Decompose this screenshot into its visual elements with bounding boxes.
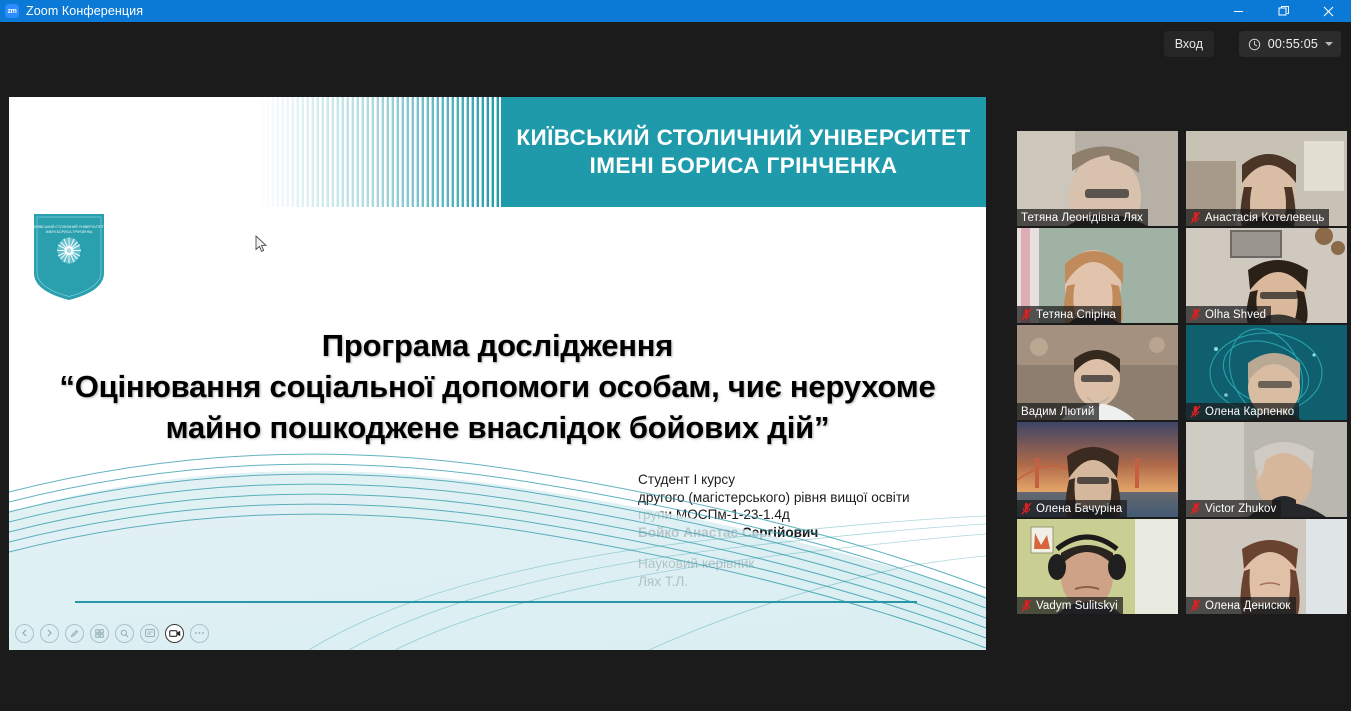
participant-namebar: Vadym Sulitskyi: [1017, 597, 1123, 614]
window-controls: [1216, 0, 1351, 22]
slide-title-line-2: “Оцінювання соціальної допомоги особам, …: [39, 366, 956, 407]
participant-namebar: Тетяна Спіріна: [1017, 306, 1121, 323]
restore-icon[interactable]: [1261, 0, 1306, 22]
participant-name: Олена Бачуріна: [1036, 503, 1122, 515]
participant-tile[interactable]: Олена Бачуріна: [1017, 422, 1178, 517]
participant-name: Анастасія Котелевець: [1205, 212, 1324, 224]
participant-name: Вадим Лютий: [1021, 406, 1094, 418]
wave-decoration: [9, 420, 986, 650]
mic-muted-icon: [1190, 405, 1201, 418]
participant-tile[interactable]: Olha Shved: [1186, 228, 1347, 323]
pen-icon[interactable]: [65, 624, 84, 643]
svg-text:КИЇВСЬКИЙ СТОЛИЧНИЙ УНІВЕРСИТЕ: КИЇВСЬКИЙ СТОЛИЧНИЙ УНІВЕРСИТЕТ: [34, 225, 104, 229]
video-camera-icon[interactable]: [165, 624, 184, 643]
participant-tile[interactable]: Тетяна Леонідівна Лях: [1017, 131, 1178, 226]
university-shield-logo-icon: КИЇВСЬКИЙ СТОЛИЧНИЙ УНІВЕРСИТЕТ ІМЕНІ БО…: [31, 211, 107, 303]
participant-tile[interactable]: Анастасія Котелевець: [1186, 131, 1347, 226]
svg-text:ІМЕНІ БОРИСА ГРІНЧЕНКА: ІМЕНІ БОРИСА ГРІНЧЕНКА: [46, 230, 93, 234]
participant-namebar: Олена Денисюк: [1186, 597, 1296, 614]
next-slide-button[interactable]: [40, 624, 59, 643]
university-name-line-1: КИЇВСЬКИЙ СТОЛИЧНИЙ УНІВЕРСИТЕТ: [516, 124, 970, 152]
participant-tile[interactable]: Vadym Sulitskyi: [1017, 519, 1178, 614]
meeting-topbar: Вход 00:55:05: [0, 22, 1351, 66]
participant-namebar: Олена Бачуріна: [1017, 500, 1127, 517]
timer-value: 00:55:05: [1268, 37, 1318, 51]
participant-namebar: Вадим Лютий: [1017, 403, 1099, 420]
participant-name: Тетяна Спіріна: [1036, 309, 1116, 321]
chevron-down-icon[interactable]: [1325, 42, 1333, 46]
participant-namebar: Олена Карпенко: [1186, 403, 1299, 420]
mouse-cursor: [255, 235, 268, 254]
zoom-logo-icon: zm: [5, 4, 19, 18]
window-title: Zoom Конференция: [26, 4, 143, 18]
participant-namebar: Анастасія Котелевець: [1186, 209, 1329, 226]
participant-name: Олена Денисюк: [1205, 600, 1291, 612]
prev-slide-button[interactable]: [15, 624, 34, 643]
shared-screen-slide[interactable]: КИЇВСЬКИЙ СТОЛИЧНИЙ УНІВЕРСИТЕТ ІМЕНІ БО…: [9, 97, 986, 650]
mic-muted-icon: [1190, 502, 1201, 515]
participant-tile[interactable]: Victor Zhukov: [1186, 422, 1347, 517]
participant-tile[interactable]: Олена Карпенко: [1186, 325, 1347, 420]
mic-muted-icon: [1021, 502, 1032, 515]
slide-header: КИЇВСЬКИЙ СТОЛИЧНИЙ УНІВЕРСИТЕТ ІМЕНІ БО…: [9, 97, 986, 207]
title-underline-rule: [75, 601, 917, 603]
participant-tile[interactable]: Олена Денисюк: [1186, 519, 1347, 614]
participant-tile[interactable]: Тетяна Спіріна: [1017, 228, 1178, 323]
meeting-timer[interactable]: 00:55:05: [1239, 31, 1341, 57]
participant-namebar: Тетяна Леонідівна Лях: [1017, 209, 1148, 226]
clock-icon: [1248, 38, 1261, 51]
header-stripes-decoration: [259, 97, 501, 207]
participant-name: Victor Zhukov: [1205, 503, 1276, 515]
participant-namebar: Olha Shved: [1186, 306, 1271, 323]
mic-muted-icon: [1190, 599, 1201, 612]
university-name-line-2: ІМЕНІ БОРИСА ГРІНЧЕНКА: [590, 152, 898, 180]
minimize-icon[interactable]: [1216, 0, 1261, 22]
captions-icon[interactable]: [140, 624, 159, 643]
close-icon[interactable]: [1306, 0, 1351, 22]
mic-muted-icon: [1190, 308, 1201, 321]
login-button[interactable]: Вход: [1164, 31, 1214, 57]
participant-namebar: Victor Zhukov: [1186, 500, 1281, 517]
participant-name: Олена Карпенко: [1205, 406, 1294, 418]
university-name-banner: КИЇВСЬКИЙ СТОЛИЧНИЙ УНІВЕРСИТЕТ ІМЕНІ БО…: [501, 97, 986, 207]
participant-name: Olha Shved: [1205, 309, 1266, 321]
mic-muted-icon: [1021, 308, 1032, 321]
slide-title-line-1: Програма дослідження: [39, 325, 956, 366]
magnifier-icon[interactable]: [115, 624, 134, 643]
participant-filmstrip[interactable]: Тетяна Леонідівна Лях Анастасія Котелеве…: [1017, 131, 1347, 616]
slideshow-controls[interactable]: [15, 622, 209, 644]
participant-name: Vadym Sulitskyi: [1036, 600, 1118, 612]
participant-name: Тетяна Леонідівна Лях: [1021, 212, 1143, 224]
participant-tile[interactable]: Вадим Лютий: [1017, 325, 1178, 420]
ellipsis-icon[interactable]: [190, 624, 209, 643]
mic-muted-icon: [1190, 211, 1201, 224]
mic-muted-icon: [1021, 599, 1032, 612]
grid-icon[interactable]: [90, 624, 109, 643]
window-titlebar: zm Zoom Конференция: [0, 0, 1351, 22]
